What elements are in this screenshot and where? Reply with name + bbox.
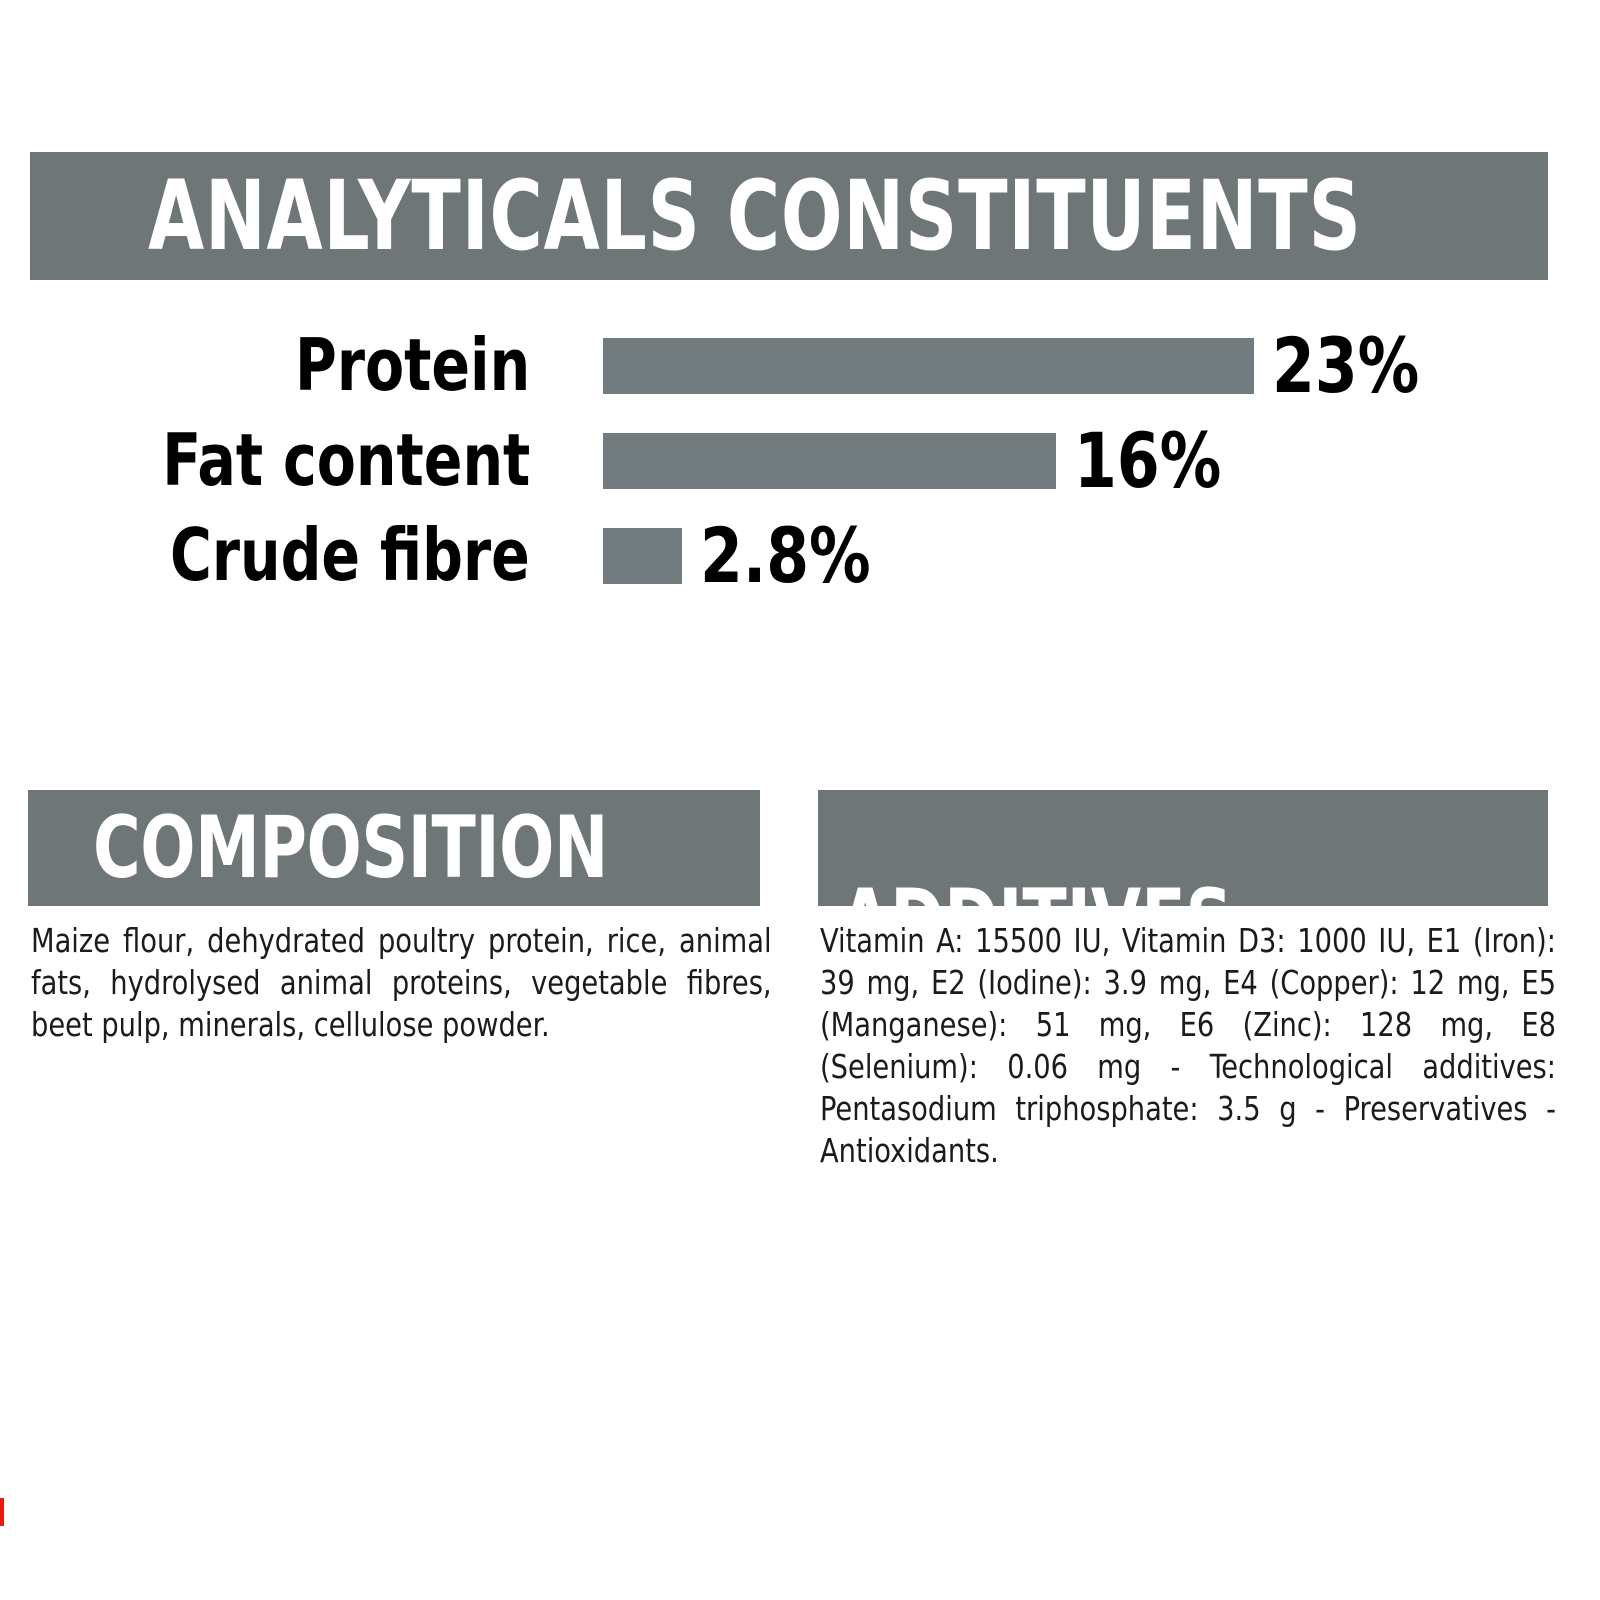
additives-header: ADDITIVES (per kg)	[818, 790, 1548, 906]
constituent-row: Protein 23%	[0, 318, 1600, 413]
constituent-value-crude-fibre: 2.8%	[700, 508, 871, 603]
analyticals-constituents-chart: Protein 23% Fat content 16% Crude fibre …	[0, 318, 1600, 603]
constituent-label-fat-content: Fat content	[162, 413, 530, 508]
constituent-label-protein: Protein	[295, 318, 530, 413]
additives-body-text: Vitamin A: 15500 IU, Vitamin D3: 1000 IU…	[820, 920, 1556, 1172]
analyticals-constituents-header: ANALYTICALS CONSTITUENTS	[30, 152, 1548, 280]
constituent-bar-crude-fibre	[603, 528, 682, 584]
constituent-value-protein: 23%	[1272, 318, 1419, 413]
composition-title: COMPOSITION	[93, 805, 608, 891]
constituent-label-crude-fibre: Crude fibre	[170, 508, 530, 603]
composition-header: COMPOSITION	[28, 790, 760, 906]
composition-body-text: Maize flour, dehydrated poultry protein,…	[31, 920, 772, 1046]
analyticals-constituents-title: ANALYTICALS CONSTITUENTS	[148, 168, 1362, 264]
constituent-row: Fat content 16%	[0, 413, 1600, 508]
constituent-bar-protein	[603, 338, 1254, 394]
constituent-row: Crude fibre 2.8%	[0, 508, 1600, 603]
edge-artifact	[0, 1498, 4, 1526]
constituent-bar-fat-content	[603, 433, 1056, 489]
constituent-value-fat-content: 16%	[1074, 413, 1221, 508]
